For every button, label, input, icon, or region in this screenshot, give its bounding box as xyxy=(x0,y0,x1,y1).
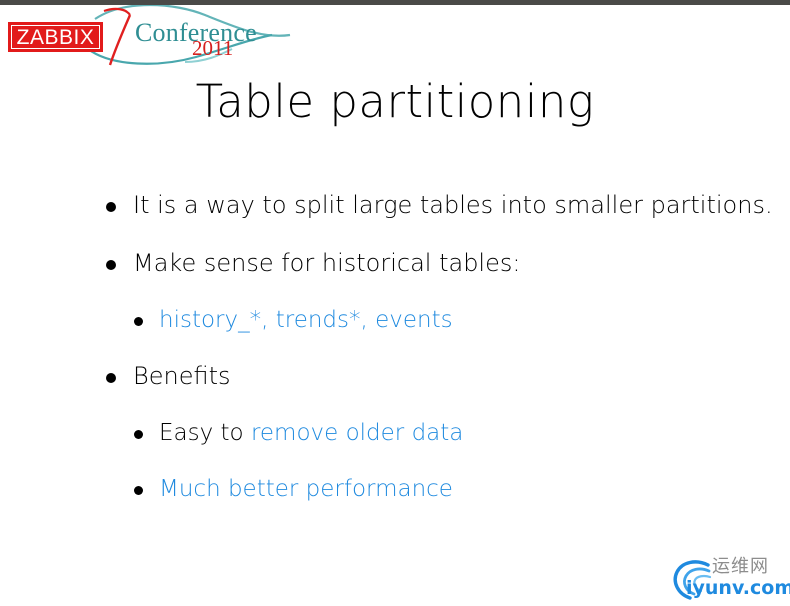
slide-title: Table partitioning xyxy=(0,77,790,127)
watermark-cn-label: 运维网 xyxy=(712,558,769,576)
bullet-dot-icon xyxy=(106,373,116,383)
site-watermark: 运维网 iyunv.com xyxy=(668,553,786,606)
bullet-dot-icon xyxy=(134,486,143,495)
bullet-dot-icon xyxy=(134,317,143,326)
conference-year: 2011 xyxy=(192,38,233,59)
conference-branding-header: ZABBIX Conference 2011 xyxy=(0,5,300,71)
bullet-segment-highlighted: Much better performance xyxy=(159,476,453,502)
bullet-segment-highlighted: remove older data xyxy=(251,420,463,446)
bullet-item: Benefits xyxy=(0,362,790,391)
slide-canvas: ZABBIX Conference 2011 Table partitionin… xyxy=(0,0,790,606)
zabbix-wordmark: ZABBIX xyxy=(17,27,95,48)
bullet-item: Make sense for historical tables: xyxy=(0,249,790,278)
bullet-dot-icon xyxy=(106,260,116,270)
bullet-segment: Easy to xyxy=(159,420,251,446)
bullet-text: Make sense for historical tables: xyxy=(133,249,520,278)
bullet-segment-highlighted: history_*, trends*, events xyxy=(159,307,453,333)
bullet-item-sub: history_*, trends*, events xyxy=(0,307,790,335)
bullet-segment: It is a way to split large tables into s… xyxy=(133,191,773,219)
slide-bullet-list: It is a way to split large tables into s… xyxy=(0,191,790,531)
bullet-segment: Make sense for historical tables: xyxy=(133,249,520,277)
bullet-text: Much better performance xyxy=(159,476,453,504)
watermark-domain: iyunv.com xyxy=(686,579,790,598)
bullet-item-sub: Much better performance xyxy=(0,476,790,504)
bullet-text: Easy to remove older data xyxy=(159,420,463,448)
bullet-segment: Benefits xyxy=(133,362,231,390)
bullet-dot-icon xyxy=(134,430,143,439)
zabbix-logo: ZABBIX xyxy=(8,22,103,52)
bullet-item: It is a way to split large tables into s… xyxy=(0,191,790,220)
bullet-dot-icon xyxy=(106,202,116,212)
bullet-text: It is a way to split large tables into s… xyxy=(133,191,773,220)
bullet-text: Benefits xyxy=(133,362,231,391)
bullet-item-sub: Easy to remove older data xyxy=(0,420,790,448)
bullet-text: history_*, trends*, events xyxy=(159,307,453,335)
